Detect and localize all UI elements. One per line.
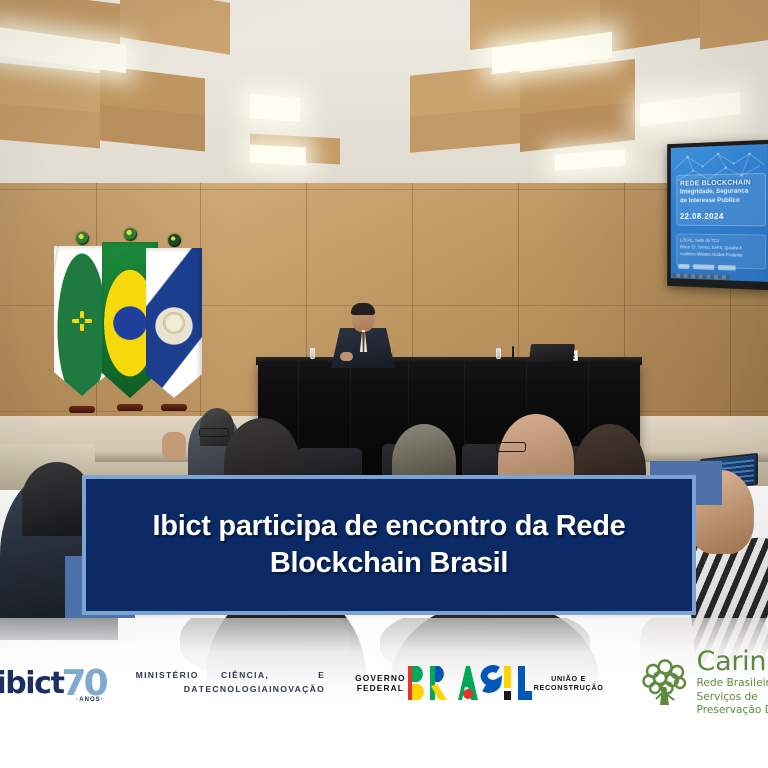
cariniana-subtitle: Rede Brasileira de Serviços de Preservaç…	[697, 677, 768, 718]
governo-federal-slogan: UNIÃO E RECONSTRUÇÃO	[534, 674, 604, 692]
cariniana-subtitle-line-2: Preservação Digital	[697, 704, 768, 718]
ibict-wordmark: ibict	[0, 666, 64, 701]
footer-logo-row: ibict 70 ·ANOS· MINISTÉRIO DA CIÊNCIA, T…	[0, 648, 768, 718]
headline-banner: Ibict participa de encontro da Rede Bloc…	[82, 475, 696, 615]
ibict-anniversary: 70 ·ANOS·	[62, 663, 106, 704]
brasil-wordmark-graphic	[406, 664, 534, 702]
post-card: REDE BLOCKCHAIN Integridade, Seguranca d…	[0, 0, 768, 768]
ministry-logo[interactable]: MINISTÉRIO DA CIÊNCIA, TECNOLOGIA E INOV…	[136, 669, 326, 697]
ministry-line-1: MINISTÉRIO DA	[136, 669, 199, 697]
cariniana-subtitle-line-1: Rede Brasileira de Serviços de	[697, 677, 768, 704]
governo-federal-label: GOVERNO FEDERAL	[355, 673, 406, 693]
governo-federal-logo[interactable]: GOVERNO FEDERAL	[355, 662, 603, 704]
cariniana-wordmark: Cariniana	[697, 648, 768, 675]
page-title: Ibict participa de encontro da Rede Bloc…	[86, 508, 692, 582]
cariniana-logo[interactable]: Cariniana Rede Brasileira de Serviços de…	[638, 648, 768, 718]
cariniana-tree-icon	[638, 657, 690, 709]
ibict-logo[interactable]: ibict 70 ·ANOS·	[0, 661, 106, 705]
footer: ibict 70 ·ANOS· MINISTÉRIO DA CIÊNCIA, T…	[0, 618, 768, 768]
cariniana-text-block: Cariniana Rede Brasileira de Serviços de…	[697, 648, 768, 718]
ibict-anniversary-label: ·ANOS·	[76, 697, 103, 703]
ministry-line-3: E INOVAÇÃO	[269, 669, 325, 697]
ministry-line-2: CIÊNCIA, TECNOLOGIA	[199, 669, 269, 697]
page-title-line-2: Blockchain Brasil	[270, 547, 508, 579]
page-title-line-1: Ibict participa de encontro da Rede	[153, 510, 626, 542]
